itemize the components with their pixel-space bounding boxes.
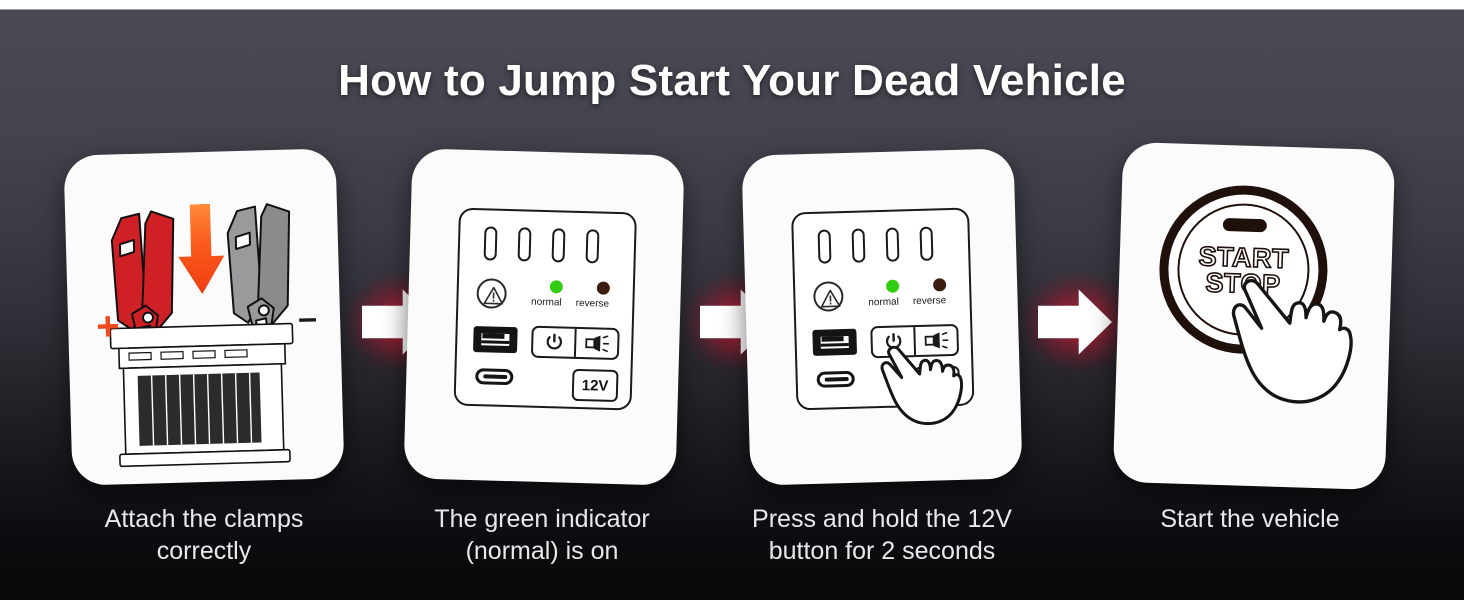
pointing-hand-icon [866, 327, 977, 438]
step-caption-4: Start the vehicle [1090, 503, 1410, 535]
page-title: How to Jump Start Your Dead Vehicle [0, 56, 1464, 106]
device-button-row [531, 326, 620, 360]
battery-bar [518, 227, 532, 261]
battery-bar [818, 229, 832, 263]
flashlight-icon [584, 334, 610, 353]
flow-arrow-3 [1038, 285, 1112, 359]
battery-level-bars [818, 227, 934, 264]
caption-line: correctly [44, 535, 364, 567]
indicator-reverse: reverse [923, 278, 957, 307]
caption-line: Press and hold the 12V [716, 503, 1048, 535]
step-card-3: normal reverse [741, 148, 1022, 485]
led-normal-dot [549, 280, 562, 293]
indicator-normal-label: normal [868, 297, 899, 309]
indicator-reverse: reverse [586, 281, 620, 310]
step-caption-1: Attach the clamps correctly [44, 503, 364, 567]
indicator-normal-label: normal [531, 297, 562, 309]
battery-bar [852, 228, 866, 262]
battery-bar [919, 227, 933, 261]
usb-c-icon [817, 371, 855, 388]
caption-line: Start the vehicle [1090, 503, 1410, 535]
usb-a-icon [473, 326, 518, 353]
indicator-reverse-label: reverse [913, 295, 947, 307]
caption-line: Attach the clamps [44, 503, 364, 535]
caption-line: The green indicator [382, 503, 702, 535]
step-card-4: START STOP [1113, 142, 1396, 490]
start-stop-dash-icon [1223, 218, 1267, 232]
battery-bar [552, 228, 566, 262]
flashlight-button[interactable] [574, 329, 618, 358]
step-caption-2: The green indicator (normal) is on [382, 503, 702, 567]
negative-terminal-label: – [298, 301, 318, 336]
indicator-reverse-label: reverse [576, 298, 610, 310]
warning-triangle-icon [813, 281, 844, 312]
battery-bar [886, 228, 900, 262]
pointing-hand-icon [1211, 255, 1372, 420]
twelve-volt-button[interactable]: 12V [572, 369, 619, 402]
usb-a-icon [812, 329, 857, 356]
led-reverse-dot [933, 278, 946, 291]
power-icon [544, 332, 565, 353]
car-battery-icon [106, 317, 310, 473]
positive-terminal-label: + [96, 306, 120, 347]
warning-triangle-icon [476, 278, 507, 309]
led-normal-dot [886, 280, 899, 293]
usb-c-icon [475, 368, 513, 385]
indicator-normal: normal [877, 279, 908, 308]
caption-line: button for 2 seconds [716, 535, 1048, 567]
battery-bar [484, 226, 498, 260]
caption-line: (normal) is on [382, 535, 702, 567]
led-reverse-dot [597, 281, 610, 294]
infographic-root: How to Jump Start Your Dead Vehicle [0, 0, 1464, 600]
indicator-normal: normal [540, 280, 571, 309]
power-button[interactable] [533, 328, 575, 357]
step-card-1: + – [63, 148, 344, 485]
jump-starter-device: normal reverse [453, 208, 636, 411]
step-card-2: normal reverse [403, 148, 684, 485]
battery-bar [586, 229, 600, 263]
battery-level-bars [484, 226, 600, 263]
step-caption-3: Press and hold the 12V button for 2 seco… [716, 503, 1048, 567]
